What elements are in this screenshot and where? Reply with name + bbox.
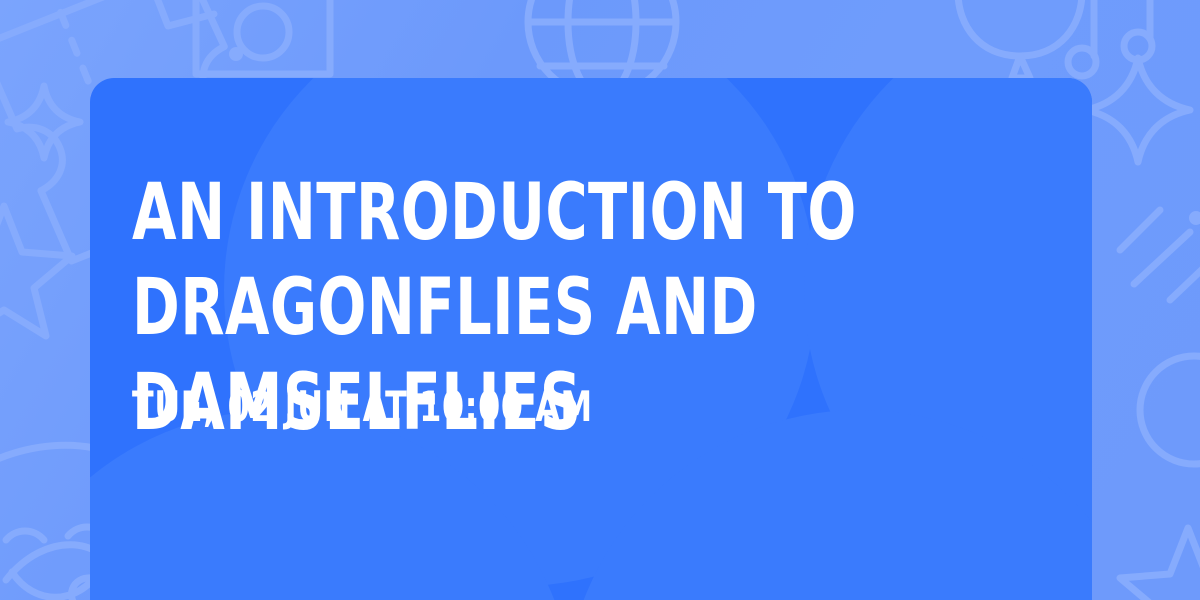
sparkle-icon [8, 86, 80, 158]
event-datetime: Tue, 02 Jun at 10:00 AM [132, 386, 593, 428]
camera-icon [196, 0, 330, 74]
event-card[interactable]: An Introduction to Dragonflies and Damse… [90, 78, 1092, 600]
card-content: An Introduction to Dragonflies and Damse… [132, 78, 1092, 600]
music-note-icon [1068, 0, 1152, 76]
star-icon [0, 206, 72, 336]
sparkle-icon [1086, 58, 1190, 162]
event-banner: An Introduction to Dragonflies and Damse… [0, 0, 1200, 600]
confetti-icon [150, 0, 243, 61]
confetti-icon [1120, 210, 1200, 300]
star-icon [1120, 528, 1200, 600]
